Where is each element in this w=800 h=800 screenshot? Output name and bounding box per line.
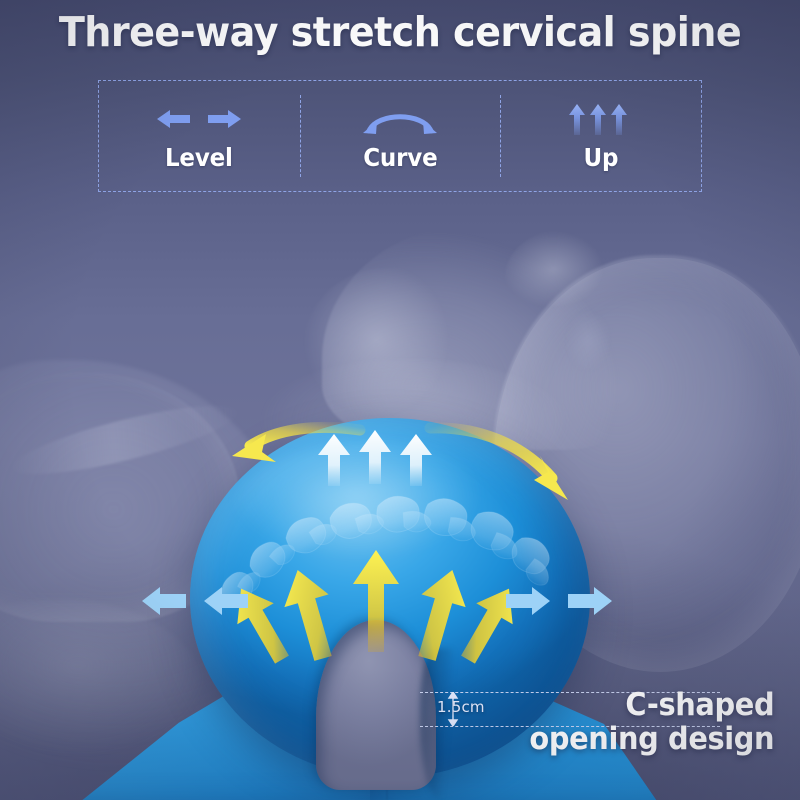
feature-label-up: Up [583,143,618,172]
dimension-label: 1.5cm [437,698,485,716]
feature-label-curve: Curve [363,143,437,172]
feature-item-up[interactable]: Up [500,81,701,191]
white-up-arrow-group [318,430,432,486]
feature-item-level[interactable]: Level [99,81,300,191]
yellow-up-arrow-group [223,550,527,670]
yellow-curved-arrow-right [430,428,568,500]
page-title: Three-way stretch cervical spine [28,0,772,53]
triple-up-arrow-icon [565,101,637,139]
feature-item-curve[interactable]: Curve [300,81,501,191]
double-horizontal-arrow-icon [156,101,242,139]
curved-arc-arrow-icon [357,101,443,139]
caption-c-shaped-opening: C-shaped opening design [529,689,774,756]
feature-box: Level Curve [98,80,702,192]
product-poster: 1.5cm Three-way stretch cervical spine L… [0,0,800,800]
caption-line-2: opening design [529,723,774,756]
header: Three-way stretch cervical spine Level [0,0,800,53]
feature-label-level: Level [165,143,233,172]
caption-line-1: C-shaped [529,689,774,722]
